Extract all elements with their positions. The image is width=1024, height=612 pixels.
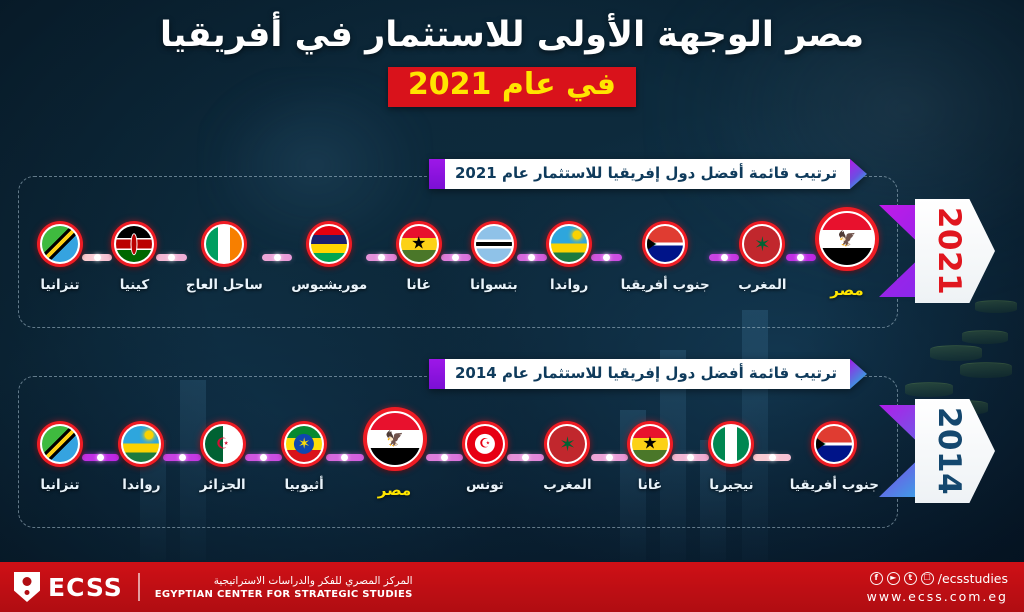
ecss-name-arabic: المركز المصري للفكر والدراسات الاستراتيج… [155, 575, 413, 587]
timeline-node-2021-2[interactable]: ✶المغرب [738, 221, 786, 293]
connector-dot [441, 454, 448, 461]
divider [138, 573, 140, 601]
ma-flag-icon: ✶ [739, 221, 785, 267]
background-coin-stack [960, 362, 1012, 378]
footer-brand: ECSS المركز المصري للفكر والدراسات الاست… [0, 572, 413, 602]
timeline-connector [82, 254, 112, 261]
eg-flag-icon: 🦅 [815, 207, 879, 271]
panel-2021: ترتيب قائمة أفضل دول إفريقيا للاستثمار ع… [18, 176, 898, 328]
rw-flag-icon [118, 421, 164, 467]
panel-2014: ترتيب قائمة أفضل دول إفريقيا للاستثمار ع… [18, 376, 898, 528]
gh-flag-icon: ★ [627, 421, 673, 467]
connector-dot [452, 254, 459, 261]
timeline-node-2014-5[interactable]: ☪تونس [462, 421, 508, 493]
connector-dot [179, 454, 186, 461]
country-label: غانا [638, 477, 662, 493]
country-label: مصر [830, 281, 863, 299]
social-row: f ► t ☐ /ecsstudies [870, 571, 1008, 586]
flag-disc: ✶ [742, 224, 782, 264]
flag-disc: ✶ [547, 424, 587, 464]
arrow-tip-icon [850, 359, 867, 389]
connector-dot [168, 254, 175, 261]
flag-disc [40, 224, 80, 264]
page-title: مصر الوجهة الأولى للاستثمار في أفريقيا [0, 14, 1024, 58]
flag-disc [309, 224, 349, 264]
connector-dot [769, 454, 776, 461]
facebook-icon[interactable]: f [870, 572, 883, 585]
ecss-fullname: المركز المصري للفكر والدراسات الاستراتيج… [155, 575, 413, 600]
year-plate: 2014 [915, 399, 995, 503]
footer-contact: f ► t ☐ /ecsstudies www.ecss.com.eg [867, 571, 1024, 604]
rw-flag-icon [546, 221, 592, 267]
connector-dot [797, 254, 804, 261]
timeline-connector [82, 454, 119, 461]
timeline-node-2014-8[interactable]: ☪الجزائر [200, 421, 246, 493]
connector-dot [721, 254, 728, 261]
gh-flag-icon: ★ [396, 221, 442, 267]
timeline-connector [709, 254, 739, 261]
year-label-2021: 2021 [931, 207, 967, 295]
connector-dot [687, 454, 694, 461]
country-label: مصر [378, 481, 411, 499]
dz-flag-icon: ☪ [200, 421, 246, 467]
timeline-node-2021-4[interactable]: رواندا [546, 221, 592, 293]
country-label: غانا [407, 277, 431, 293]
country-label: جنوب أفريقيا [790, 477, 879, 493]
timeline-connector [262, 254, 292, 261]
timeline-node-2014-3[interactable]: ★غانا [627, 421, 673, 493]
connector-dot [528, 254, 535, 261]
ke-flag-icon [111, 221, 157, 267]
connector-dot [378, 254, 385, 261]
infographic-canvas: مصر الوجهة الأولى للاستثمار في أفريقيا ف… [0, 0, 1024, 612]
tz-flag-icon [37, 421, 83, 467]
country-label: أثيوبيا [284, 477, 323, 493]
timeline-node-2014-1[interactable]: جنوب أفريقيا [790, 421, 879, 493]
timeline-2021: 🦅مصر✶المغربجنوب أفريقيارواندابتسوانا★غان… [37, 215, 879, 299]
timeline-connector [786, 254, 816, 261]
timeline-connector [156, 254, 186, 261]
flag-disc [121, 424, 161, 464]
flag-disc [40, 424, 80, 464]
country-label: المغرب [738, 277, 786, 293]
flag-disc: ✶ [284, 424, 324, 464]
connector-dot [606, 454, 613, 461]
connector-dot [94, 254, 101, 261]
timeline-connector [507, 454, 544, 461]
year-badge-2021: 2021 [905, 199, 1009, 303]
timeline-node-2014-2[interactable]: نيجيريا [708, 421, 754, 493]
flag-disc [549, 224, 589, 264]
timeline-connector [366, 254, 396, 261]
eg-flag-icon: 🦅 [363, 407, 427, 471]
header-accent-bar [429, 359, 445, 389]
country-label: بتسوانا [470, 277, 518, 293]
country-label: رواندا [122, 477, 160, 493]
flag-disc: ☪ [465, 424, 505, 464]
country-label: المغرب [543, 477, 591, 493]
timeline-node-2014-4[interactable]: ✶المغرب [543, 421, 591, 493]
flag-disc [814, 424, 854, 464]
year-plate: 2021 [915, 199, 995, 303]
panel-2021-header: ترتيب قائمة أفضل دول إفريقيا للاستثمار ع… [429, 159, 867, 189]
country-label: نيجيريا [709, 477, 753, 493]
country-label: تنزانيا [40, 277, 79, 293]
flag-disc [204, 224, 244, 264]
timeline-node-2021-1[interactable]: 🦅مصر [815, 207, 879, 299]
mu-flag-icon [306, 221, 352, 267]
flag-disc: 🦅 [819, 211, 875, 267]
timeline-node-2021-7[interactable]: موريشيوس [291, 221, 367, 293]
social-handle[interactable]: /ecsstudies [938, 571, 1008, 586]
panel-2014-header-label: ترتيب قائمة أفضل دول إفريقيا للاستثمار ع… [445, 359, 850, 389]
year-label-2014: 2014 [931, 407, 967, 495]
country-label: تونس [466, 477, 504, 493]
country-label: رواندا [550, 277, 588, 293]
bw-flag-icon [471, 221, 517, 267]
flag-disc: 🦅 [367, 411, 423, 467]
timeline-node-2014-6[interactable]: 🦅مصر [363, 407, 427, 499]
ecss-logo-icon [14, 572, 40, 602]
timeline-node-2014-7[interactable]: ✶أثيوبيا [281, 421, 327, 493]
ci-flag-icon [201, 221, 247, 267]
footer-bar: ECSS المركز المصري للفكر والدراسات الاست… [0, 562, 1024, 612]
twitter-icon[interactable]: t [904, 572, 917, 585]
background-coin-stack [962, 330, 1008, 344]
ecss-wordmark: ECSS [48, 573, 123, 602]
za-flag-icon [642, 221, 688, 267]
timeline-node-2021-3[interactable]: جنوب أفريقيا [621, 221, 710, 293]
youtube-icon[interactable]: ► [887, 572, 900, 585]
timeline-node-2014-10[interactable]: تنزانيا [37, 421, 83, 493]
connector-dot [522, 454, 529, 461]
timeline-connector [326, 454, 363, 461]
timeline-node-2021-6[interactable]: ★غانا [396, 221, 442, 293]
timeline-connector [753, 454, 790, 461]
country-label: ساحل العاج [186, 277, 263, 293]
timeline-node-2021-10[interactable]: تنزانيا [37, 221, 83, 293]
timeline-connector [517, 254, 547, 261]
flag-disc [114, 224, 154, 264]
instagram-icon[interactable]: ☐ [921, 572, 934, 585]
title-year-badge: في عام 2021 [388, 67, 636, 108]
flag-disc: ☪ [203, 424, 243, 464]
country-label: الجزائر [200, 477, 246, 493]
flag-disc [711, 424, 751, 464]
timeline-connector [163, 454, 200, 461]
timeline-connector [245, 454, 282, 461]
timeline-node-2021-9[interactable]: كينيا [111, 221, 157, 293]
country-label: كينيا [120, 277, 149, 293]
timeline-node-2021-8[interactable]: ساحل العاج [186, 221, 263, 293]
ma-flag-icon: ✶ [544, 421, 590, 467]
background-coin-stack [930, 345, 982, 361]
year-badge-2014: 2014 [905, 399, 1009, 503]
timeline-connector [426, 454, 463, 461]
header-accent-bar [429, 159, 445, 189]
timeline-connector [591, 454, 628, 461]
za-flag-icon [811, 421, 857, 467]
title-block: مصر الوجهة الأولى للاستثمار في أفريقيا ف… [0, 14, 1024, 107]
connector-dot [341, 454, 348, 461]
flag-disc [474, 224, 514, 264]
timeline-2014: جنوب أفريقيانيجيريا★غانا✶المغرب☪تونس🦅مصر… [37, 415, 879, 499]
timeline-node-2021-5[interactable]: بتسوانا [470, 221, 518, 293]
country-label: جنوب أفريقيا [621, 277, 710, 293]
panel-2021-header-label: ترتيب قائمة أفضل دول إفريقيا للاستثمار ع… [445, 159, 850, 189]
background-coin-stack [905, 382, 953, 397]
timeline-node-2014-9[interactable]: رواندا [118, 421, 164, 493]
timeline-connector [591, 254, 621, 261]
connector-dot [97, 454, 104, 461]
country-label: موريشيوس [291, 277, 367, 293]
timeline-connector [441, 254, 471, 261]
arrow-tip-icon [850, 159, 867, 189]
et-flag-icon: ✶ [281, 421, 327, 467]
connector-dot [603, 254, 610, 261]
tz-flag-icon [37, 221, 83, 267]
timeline-connector [672, 454, 709, 461]
connector-dot [274, 254, 281, 261]
flag-disc: ★ [399, 224, 439, 264]
website-url[interactable]: www.ecss.com.eg [867, 589, 1008, 604]
tn-flag-icon: ☪ [462, 421, 508, 467]
flag-disc: ★ [630, 424, 670, 464]
connector-dot [260, 454, 267, 461]
country-label: تنزانيا [40, 477, 79, 493]
flag-disc [645, 224, 685, 264]
panel-2014-header: ترتيب قائمة أفضل دول إفريقيا للاستثمار ع… [429, 359, 867, 389]
ng-flag-icon [708, 421, 754, 467]
ecss-name-english: EGYPTIAN CENTER FOR STRATEGIC STUDIES [155, 589, 413, 600]
